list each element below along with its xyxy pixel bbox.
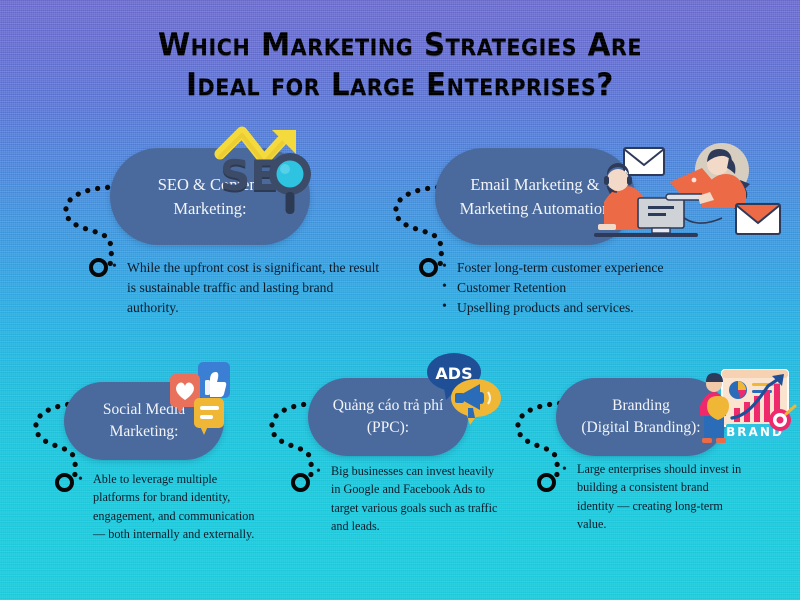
page-title: Which Marketing Strategies Are Ideal for… [80, 26, 719, 105]
marker-ring-ppc [291, 473, 310, 492]
bullet-item: Large enterprises should invest in build… [562, 460, 748, 533]
page-title-line-1: Which Marketing Strategies Are [80, 26, 719, 66]
card-social-media-marketing[interactable]: Social Media Marketing: [64, 382, 224, 460]
marker-ring-email [419, 258, 438, 277]
page-title-line-2: Ideal for Large Enterprises? [80, 66, 719, 106]
card-title-social: Social Media Marketing: [82, 399, 206, 443]
bullet-item: Big businesses can invest heavily in Goo… [316, 462, 498, 535]
marker-ring-branding [537, 473, 556, 492]
bullets-social: Able to leverage multiple platforms for … [78, 470, 256, 543]
bullets-email: Foster long-term customer experience Cus… [442, 258, 742, 318]
card-email-marketing-automation[interactable]: Email Marketing & Marketing Automation [435, 148, 635, 245]
card-paid-advertising-ppc[interactable]: Quảng cáo trả phí (PPC): [308, 378, 468, 456]
bullet-item: While the upfront cost is significant, t… [112, 258, 380, 318]
bullet-item: Customer Retention [442, 278, 742, 298]
bullet-item: Upselling products and services. [442, 298, 742, 318]
bullets-seo: While the upfront cost is significant, t… [112, 258, 380, 318]
bullets-ppc: Big businesses can invest heavily in Goo… [316, 462, 498, 535]
card-title-email: Email Marketing & Marketing Automation [453, 173, 617, 220]
infographic-canvas: Which Marketing Strategies Are Ideal for… [0, 0, 800, 600]
bullet-item: Foster long-term customer experience [442, 258, 742, 278]
card-title-branding: Branding (Digital Branding): [574, 395, 708, 439]
card-digital-branding[interactable]: Branding (Digital Branding): [556, 378, 726, 456]
marker-ring-social [55, 473, 74, 492]
marker-ring-seo [89, 258, 108, 277]
bullet-item: Able to leverage multiple platforms for … [78, 470, 256, 543]
card-title-seo: SEO & Content Marketing: [128, 173, 292, 220]
card-title-ppc: Quảng cáo trả phí (PPC): [326, 395, 450, 439]
bullets-branding: Large enterprises should invest in build… [562, 460, 748, 533]
card-seo-content-marketing[interactable]: SEO & Content Marketing: [110, 148, 310, 245]
brand-icon-label: BRAND [726, 425, 784, 439]
